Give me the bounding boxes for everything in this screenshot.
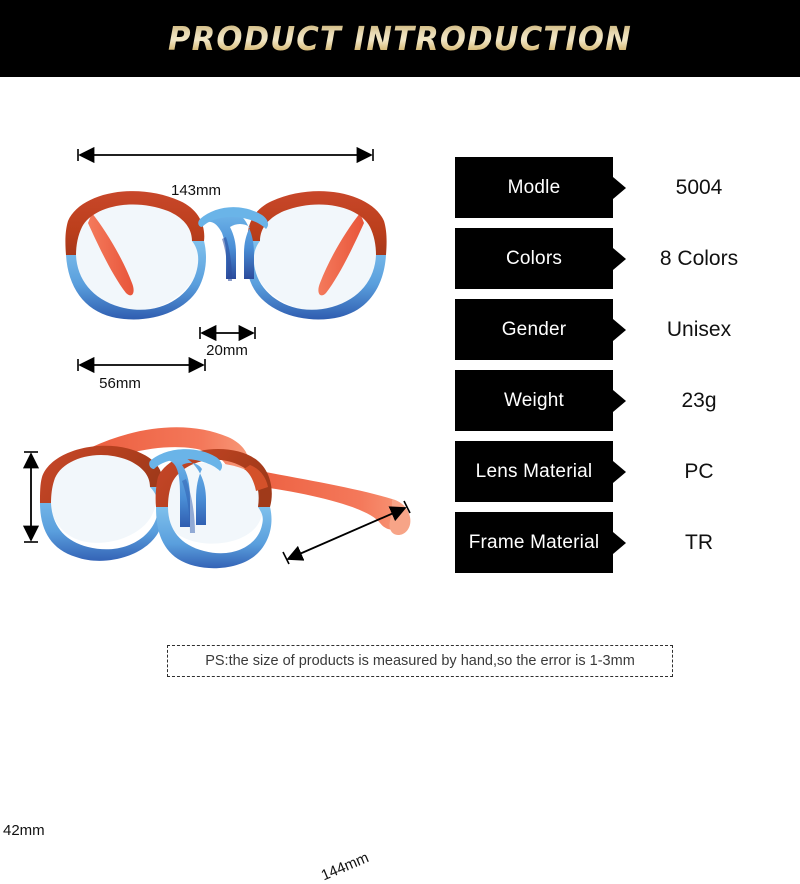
footer-note-text: PS:the size of products is measured by h… bbox=[205, 653, 635, 669]
dimension-label-temple-length: 144mm bbox=[319, 849, 372, 884]
spec-label-lens-material: Lens Material bbox=[455, 441, 613, 502]
dimension-line-143mm bbox=[78, 149, 373, 161]
spec-label-weight: Weight bbox=[455, 370, 613, 431]
front-view-illustration: 143mm 20mm 56mm bbox=[0, 127, 440, 417]
spec-value-colors: 8 Colors bbox=[613, 228, 771, 289]
glasses-front-drawing bbox=[65, 191, 386, 319]
table-row: Modle 5004 bbox=[455, 157, 771, 218]
spec-value-weight: 23g bbox=[613, 370, 771, 431]
spec-value-gender: Unisex bbox=[613, 299, 771, 360]
glasses-angle-drawing bbox=[40, 427, 410, 568]
main-content-area: 143mm 20mm 56mm bbox=[0, 77, 800, 708]
spec-label-gender: Gender bbox=[455, 299, 613, 360]
header-banner: PRODUCT INTRODUCTION bbox=[0, 0, 800, 77]
dimension-label-bridge-width: 20mm bbox=[206, 342, 248, 359]
spec-label-frame-material: Frame Material bbox=[455, 512, 613, 573]
footer-note-box: PS:the size of products is measured by h… bbox=[167, 645, 673, 677]
front-view-graphic bbox=[0, 127, 440, 417]
spec-value-modle: 5004 bbox=[613, 157, 771, 218]
angle-view-illustration: 42mm 144mm bbox=[0, 407, 440, 607]
dimension-label-lens-width: 56mm bbox=[99, 375, 141, 392]
spec-label-modle: Modle bbox=[455, 157, 613, 218]
dimension-line-42mm bbox=[24, 452, 38, 542]
table-row: Lens Material PC bbox=[455, 441, 771, 502]
table-row: Colors 8 Colors bbox=[455, 228, 771, 289]
spec-value-frame-material: TR bbox=[613, 512, 771, 573]
dimension-label-total-width: 143mm bbox=[171, 182, 221, 199]
dimension-line-20mm bbox=[200, 327, 255, 339]
spec-value-lens-material: PC bbox=[613, 441, 771, 502]
specification-table: Modle 5004 Colors 8 Colors Gender Unisex… bbox=[455, 157, 771, 583]
dimension-line-56mm bbox=[78, 359, 205, 371]
angle-view-graphic bbox=[0, 407, 440, 607]
dimension-label-lens-height: 42mm bbox=[3, 822, 45, 839]
table-row: Gender Unisex bbox=[455, 299, 771, 360]
spec-label-colors: Colors bbox=[455, 228, 613, 289]
table-row: Weight 23g bbox=[455, 370, 771, 431]
page-title: PRODUCT INTRODUCTION bbox=[28, 0, 772, 77]
table-row: Frame Material TR bbox=[455, 512, 771, 573]
